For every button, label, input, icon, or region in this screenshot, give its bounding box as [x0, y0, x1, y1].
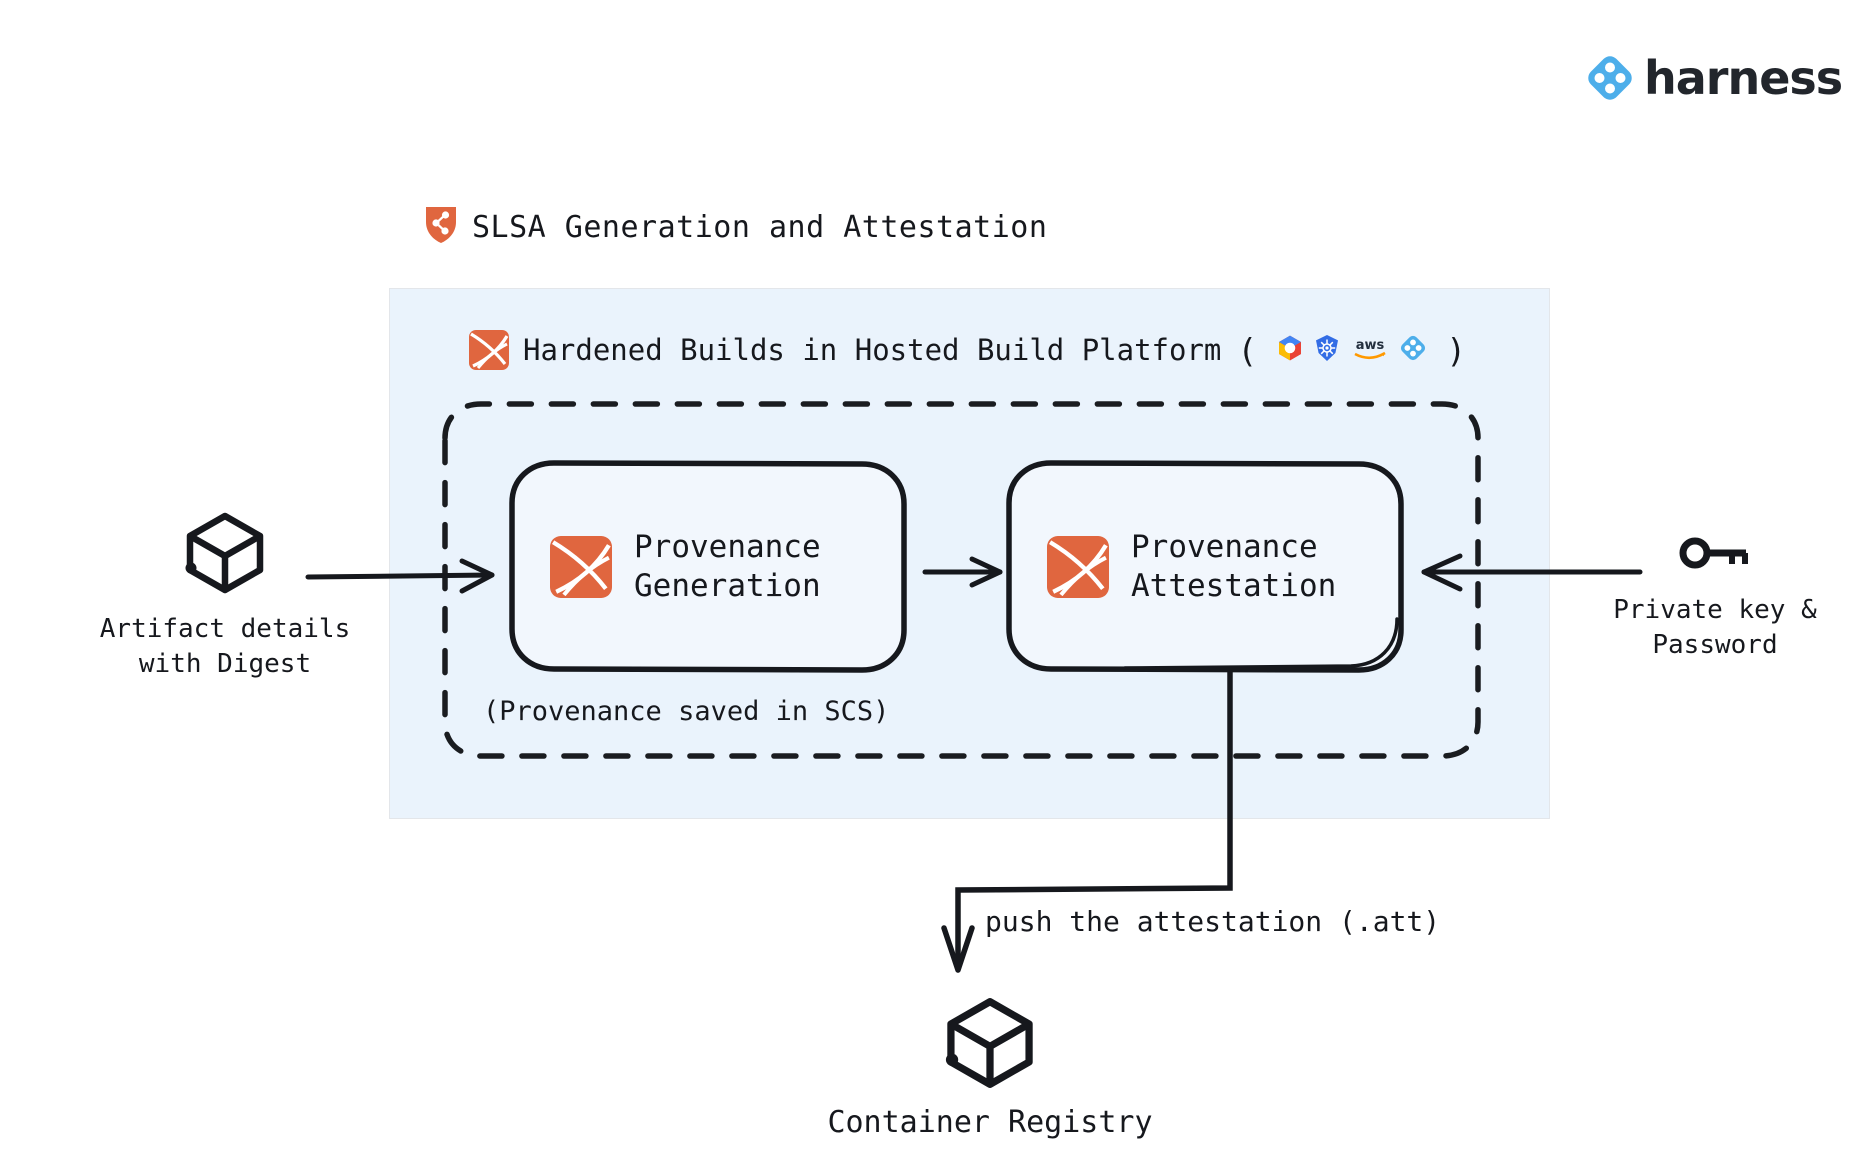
- container-registry-node: Container Registry: [780, 995, 1200, 1140]
- cube-icon: [780, 995, 1200, 1091]
- svg-text:aws: aws: [1356, 338, 1385, 353]
- cube-icon: [90, 510, 360, 596]
- stage-label: Provenance Generation: [634, 528, 821, 606]
- section-title-label: SLSA Generation and Attestation: [472, 210, 1047, 245]
- panel-heading-open-paren: (: [1237, 331, 1257, 370]
- private-key-node: Private key & Password: [1590, 535, 1840, 663]
- harness-square-icon: [1047, 536, 1109, 598]
- key-icon: [1590, 535, 1840, 579]
- stage-label: Provenance Attestation: [1131, 528, 1336, 606]
- provenance-scs-note: (Provenance saved in SCS): [483, 696, 889, 727]
- stage-provenance-attestation[interactable]: Provenance Attestation: [1005, 459, 1405, 674]
- harness-square-icon: [550, 536, 612, 598]
- harness-brand-logo: harness: [1586, 54, 1842, 102]
- google-cloud-icon: [1276, 334, 1304, 366]
- harness-diamond-logo-icon: [1586, 54, 1634, 102]
- harness-square-icon: [469, 330, 509, 370]
- kubernetes-icon: [1313, 334, 1341, 366]
- private-key-caption: Private key & Password: [1590, 593, 1840, 663]
- container-registry-caption: Container Registry: [780, 1105, 1200, 1140]
- panel-heading-row: Hardened Builds in Hosted Build Platform…: [469, 330, 1468, 370]
- harness-wordmark: harness: [1644, 55, 1842, 101]
- platform-icon-group: aws: [1276, 334, 1427, 366]
- stage-provenance-generation[interactable]: Provenance Generation: [508, 459, 908, 674]
- panel-heading-label: Hardened Builds in Hosted Build Platform: [523, 333, 1221, 367]
- section-title-row: SLSA Generation and Attestation: [424, 205, 1047, 249]
- panel-heading-close-paren: ): [1446, 331, 1466, 370]
- slsa-shield-icon: [424, 205, 458, 249]
- aws-icon: aws: [1350, 334, 1390, 366]
- push-attestation-edge-label: push the attestation (.att): [985, 905, 1440, 938]
- artifact-source-node: Artifact details with Digest: [90, 510, 360, 682]
- artifact-node-caption: Artifact details with Digest: [90, 612, 360, 682]
- harness-icon: [1399, 334, 1427, 366]
